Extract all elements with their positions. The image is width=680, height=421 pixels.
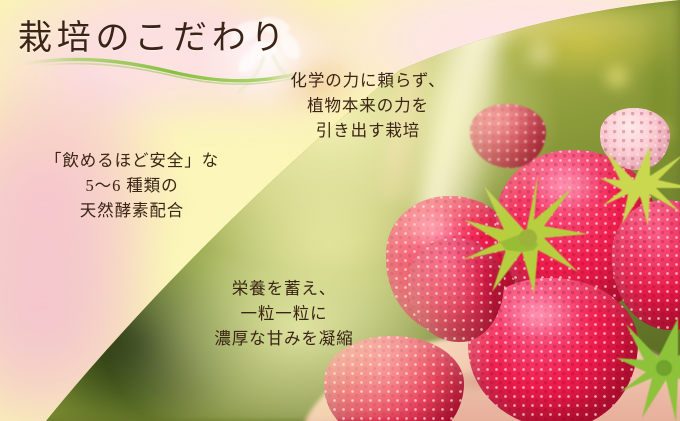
message-line: 植物本来の力を	[252, 93, 484, 118]
message-line: 天然酵素配合	[8, 198, 256, 223]
message-line: 引き出す栽培	[252, 118, 484, 143]
message-line: 一粒一粒に	[155, 301, 413, 326]
message-line: 「飲めるほど安全」な	[8, 148, 256, 173]
page-title: 栽培のこだわり	[18, 13, 289, 65]
no-chemicals-message: 化学の力に頼らず、 植物本来の力を 引き出す栽培	[252, 68, 484, 143]
message-line: 栄養を蓄え、	[155, 276, 413, 301]
message-line: 5〜6 種類の	[8, 173, 256, 198]
message-line: 濃厚な甘みを凝縮	[155, 326, 413, 351]
cultivation-commitment-banner: 栽培のこだわり 化学の力に頼らず、 植物本来の力を 引き出す栽培 「飲めるほど安…	[0, 0, 680, 421]
concentrated-sweetness-message: 栄養を蓄え、 一粒一粒に 濃厚な甘みを凝縮	[155, 276, 413, 351]
natural-enzymes-message: 「飲めるほど安全」な 5〜6 種類の 天然酵素配合	[8, 148, 256, 223]
message-line: 化学の力に頼らず、	[252, 68, 484, 93]
